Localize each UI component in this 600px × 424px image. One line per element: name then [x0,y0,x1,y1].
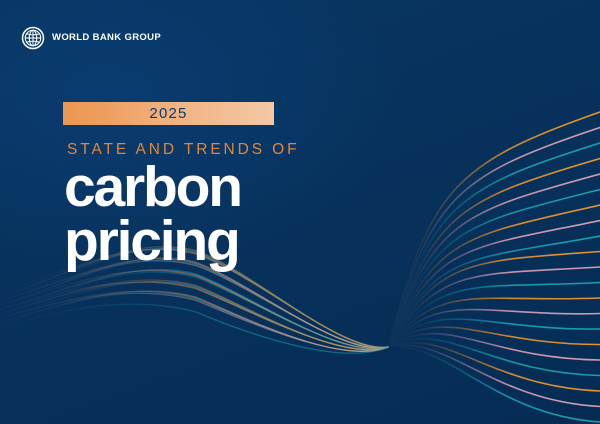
report-cover: WORLD BANK GROUP 2025 STATE AND TRENDS O… [0,0,600,424]
year-banner: 2025 [63,102,274,125]
ribbon-line-pink [388,345,600,406]
world-bank-group-logo: WORLD BANK GROUP [21,26,161,50]
ribbon-line-orange [388,343,600,391]
world-bank-globe-icon [21,26,45,50]
ribbon-line-teal [0,272,388,348]
logo-wordmark: WORLD BANK GROUP [52,33,161,43]
ribbon-line-teal [0,304,388,353]
ribbon-line-orange [388,327,600,347]
year-label: 2025 [149,106,187,121]
ribbon-line-pink [0,282,388,350]
page-title: carbon pricing [64,161,241,268]
title-line-pricing: pricing [64,215,241,267]
title-line-carbon: carbon [64,161,241,213]
